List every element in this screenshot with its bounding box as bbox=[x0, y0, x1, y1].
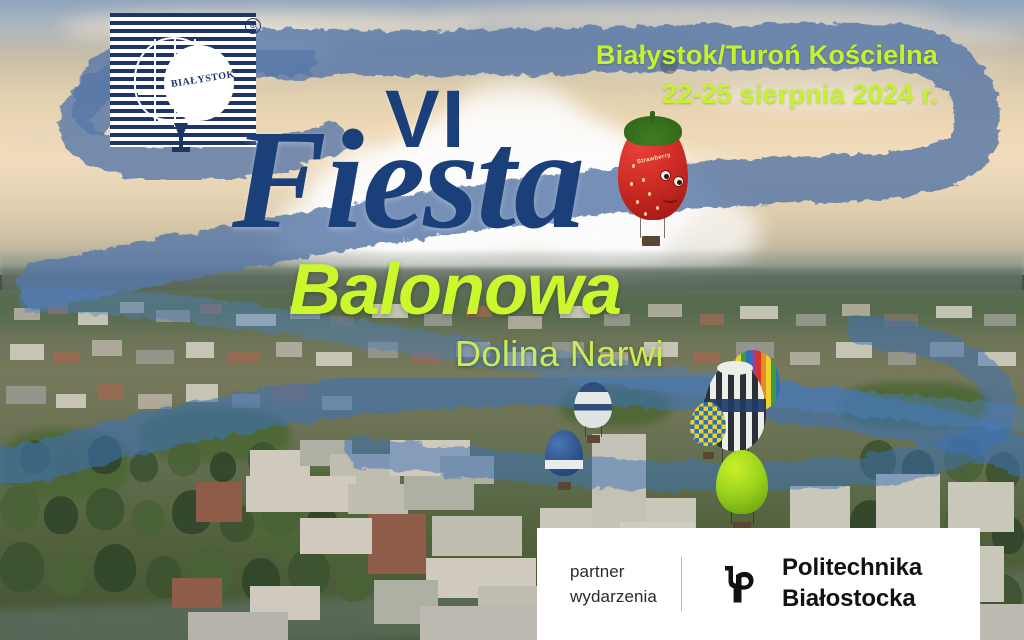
partner-label-line2: wydarzenia bbox=[570, 584, 657, 610]
subtitle-dolina-narwi: Dolina Narwi bbox=[455, 336, 664, 372]
org-line1: Politechnika bbox=[782, 553, 922, 584]
title-fiesta: Fiesta bbox=[232, 108, 583, 250]
event-location: Białystok/Turoń Kościelna bbox=[596, 36, 938, 75]
logo-balloon-graphic: BIAŁYSTOK bbox=[128, 27, 240, 139]
event-header: Białystok/Turoń Kościelna 22-25 sierpnia… bbox=[596, 36, 938, 115]
bp-monogram-icon bbox=[715, 559, 765, 609]
org-line2: Białostocka bbox=[782, 584, 922, 615]
partner-label-line1: partner bbox=[570, 559, 657, 585]
balloon-fiesta-poster: Strawberry bbox=[0, 0, 1024, 640]
strawberry-balloon: Strawberry bbox=[618, 120, 688, 248]
partner-panel: partner wydarzenia Politechnika Białosto… bbox=[537, 528, 980, 640]
title-balonowa: Balonowa bbox=[289, 254, 621, 326]
panel-divider bbox=[681, 557, 682, 611]
navy-balloon bbox=[545, 430, 583, 492]
registered-trademark-icon: ® bbox=[245, 18, 261, 34]
strawberry-smile bbox=[662, 194, 678, 203]
green-balloon bbox=[716, 450, 768, 532]
partner-label: partner wydarzenia bbox=[570, 559, 657, 610]
partner-organization-name: Politechnika Białostocka bbox=[782, 553, 922, 614]
event-dates: 22-25 sierpnia 2024 r. bbox=[596, 75, 938, 114]
